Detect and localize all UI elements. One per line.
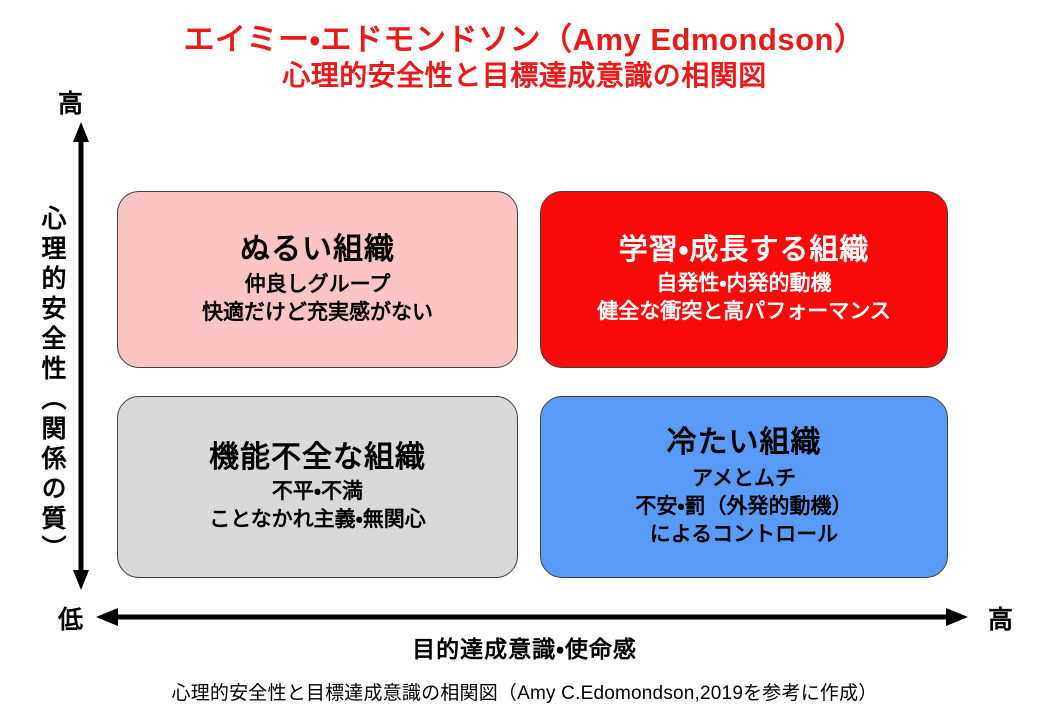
quadrant-sub-line-1: 不平・不満 <box>209 478 426 506</box>
quadrant-subtext: 仲良しグループ 快適だけど充実感がない <box>202 271 433 327</box>
quadrant-nurui-soshiki[interactable]: ぬるい組織 仲良しグループ 快適だけど充実感がない <box>117 191 518 368</box>
quadrant-subtext: 不平・不満 ことなかれ主義・無関心 <box>209 478 426 534</box>
quadrant-sub-line-1: アメとムチ <box>635 465 852 493</box>
diagram-canvas: エイミー・エドモンドソン（Amy Edmondson） 心理的安全性と目標達成意… <box>0 0 1049 720</box>
title-line-2: 心理的安全性と目標達成意識の相関図 <box>0 59 1049 92</box>
y-axis-title: 心理的安全性（関係の質） <box>20 185 64 585</box>
quadrant-sub-line-3: によるコントロール <box>635 521 852 549</box>
quadrant-title: ぬるい組織 <box>240 232 395 269</box>
quadrant-sub-line-2: ことなかれ主義・無関心 <box>209 506 426 534</box>
quadrant-tsumetai-soshiki[interactable]: 冷たい組織 アメとムチ 不安・罰（外発的動機） によるコントロール <box>540 396 948 578</box>
quadrant-sub-line-1: 自発性・内発的動機 <box>597 270 891 298</box>
quadrant-gakushu-seicho-suru-soshiki[interactable]: 学習・成長する組織 自発性・内発的動機 健全な衝突と高パフォーマンス <box>540 191 948 368</box>
quadrant-sub-line-2: 快適だけど充実感がない <box>202 299 433 327</box>
quadrant-subtext: 自発性・内発的動機 健全な衝突と高パフォーマンス <box>597 270 891 326</box>
y-axis-arrow-icon <box>73 122 89 590</box>
quadrant-title: 機能不全な組織 <box>209 440 426 477</box>
quadrant-sub-line-2: 健全な衝突と高パフォーマンス <box>597 298 891 326</box>
diagram-caption: 心理的安全性と目標達成意識の相関図（Amy C.Edomondson,2019を… <box>0 678 1049 705</box>
diagram-title: エイミー・エドモンドソン（Amy Edmondson） 心理的安全性と目標達成意… <box>0 22 1049 92</box>
quadrant-sub-line-1: 仲良しグループ <box>202 271 433 299</box>
title-line-1: エイミー・エドモンドソン（Amy Edmondson） <box>0 22 1049 59</box>
quadrant-title: 冷たい組織 <box>667 425 822 462</box>
x-axis-arrow-icon <box>96 608 968 626</box>
quadrant-sub-line-2: 不安・罰（外発的動機） <box>635 493 852 521</box>
quadrant-title: 学習・成長する組織 <box>619 233 870 268</box>
y-axis-high-label: 高 <box>58 92 83 117</box>
quadrant-kinofuzen-na-soshiki[interactable]: 機能不全な組織 不平・不満 ことなかれ主義・無関心 <box>117 396 518 578</box>
quadrant-subtext: アメとムチ 不安・罰（外発的動機） によるコントロール <box>635 465 852 549</box>
x-axis-title: 目的達成意識・使命感 <box>0 630 1049 664</box>
